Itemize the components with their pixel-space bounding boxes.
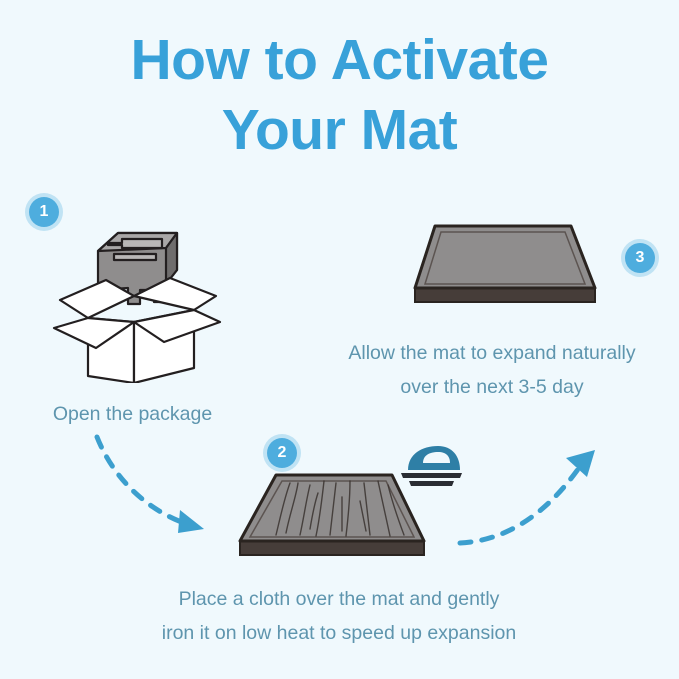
title-line-2: Your Mat	[0, 96, 679, 166]
flat-expanded-mat-illustration	[405, 220, 605, 317]
step-caption-3: Allow the mat to expand naturally over t…	[305, 337, 679, 404]
title-line-1: How to Activate	[0, 26, 679, 96]
step-badge-3: 3	[625, 243, 655, 273]
step-caption-1: Open the package	[0, 398, 265, 432]
step-badge-2: 2	[267, 438, 297, 468]
open-box-with-mat-illustration	[44, 218, 234, 388]
arrow-step2-to-step3	[455, 445, 605, 555]
page-title: How to Activate Your Mat	[0, 26, 679, 165]
arrow-step1-to-step2	[92, 432, 227, 552]
how-to-activate-mat-infographic: How to Activate Your Mat 1	[0, 0, 679, 679]
step-caption-2: Place a cloth over the mat and gently ir…	[104, 583, 574, 650]
wrinkled-mat-illustration	[232, 467, 432, 572]
